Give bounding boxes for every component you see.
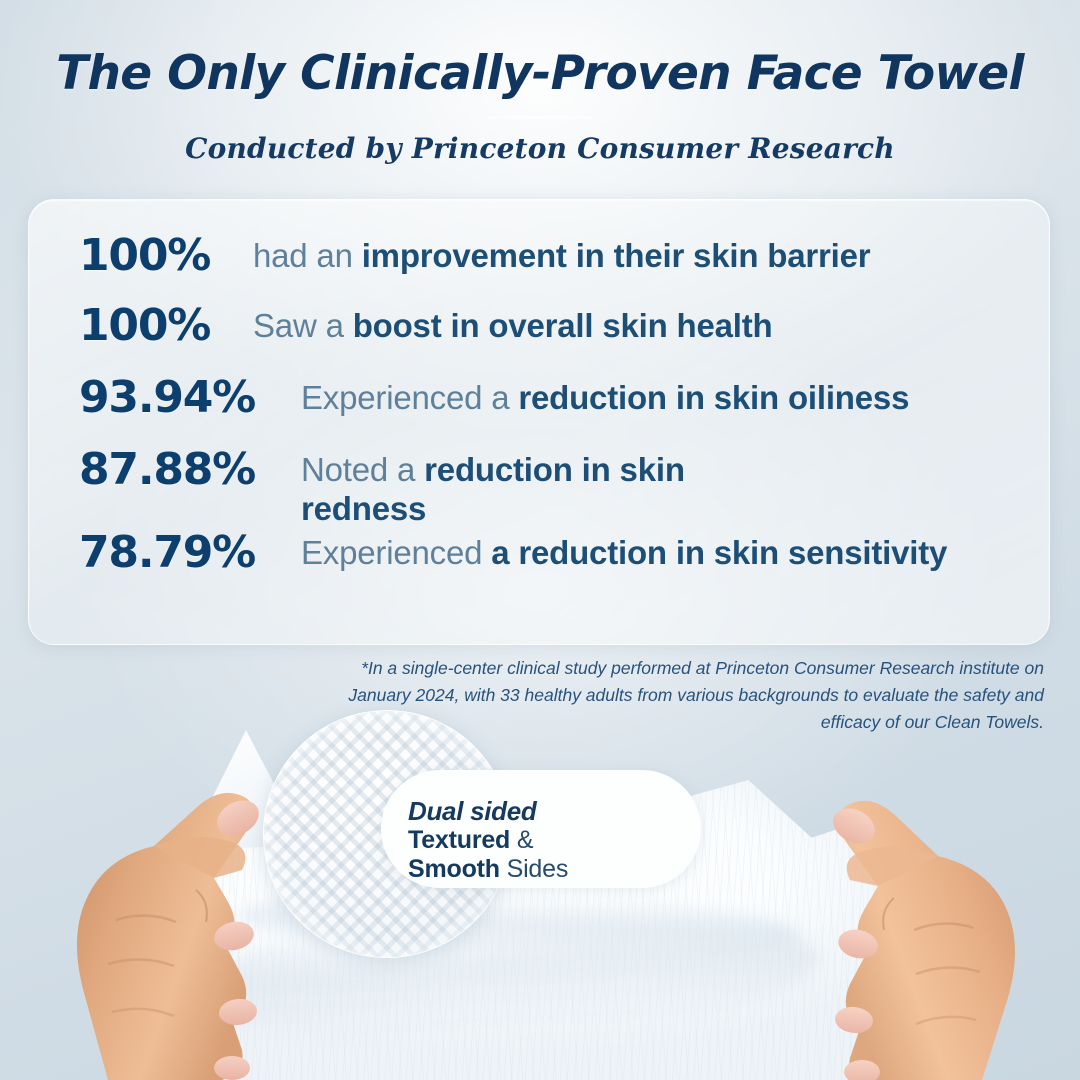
stat-lead: had an [253,237,362,274]
callout-line-1: Textured & [408,826,708,855]
dual-sided-callout: Dual sided Textured & Smooth Sides [408,796,708,884]
stat-highlight: boost in overall skin health [353,307,773,344]
study-disclaimer: *In a single-center clinical study perfo… [344,655,1044,736]
stat-value: 100% [79,234,253,278]
stat-description: Experienced a reduction in skin sensitiv… [301,531,947,573]
stat-lead: Noted a [301,451,424,488]
callout-line-2-rest: Sides [500,855,568,883]
stat-lead: Experienced a [301,379,518,416]
stat-value: 93.94% [79,376,301,420]
page-title: The Only Clinically-Proven Face Towel [0,46,1080,101]
stat-row: 93.94% Experienced a reduction in skin o… [79,376,1009,420]
stats-card: 100% had an improvement in their skin ba… [28,199,1050,645]
stat-row: 100% had an improvement in their skin ba… [79,234,1009,278]
stat-value: 87.88% [79,448,301,492]
left-hand [46,750,326,1080]
stat-row: 78.79% Experienced a reduction in skin s… [79,531,1009,575]
stats-list: 100% had an improvement in their skin ba… [29,200,1049,575]
stat-row: 100% Saw a boost in overall skin health [79,304,1009,348]
right-hand [774,760,1044,1080]
stat-lead: Experienced [301,534,491,571]
callout-line-2: Smooth Sides [408,855,708,884]
stat-value: 100% [79,304,253,348]
title-divider [478,116,602,119]
stat-description: Noted a reduction in skin redness [301,448,731,529]
stat-highlight: improvement in their skin barrier [362,237,871,274]
stat-description: Experienced a reduction in skin oiliness [301,376,909,418]
stat-description: had an improvement in their skin barrier [253,234,870,276]
stat-row: 87.88% Noted a reduction in skin redness [79,448,1009,529]
callout-title: Dual sided [408,796,708,826]
stat-description: Saw a boost in overall skin health [253,304,773,346]
stat-highlight: reduction in skin oiliness [518,379,909,416]
page-subtitle: Conducted by Princeton Consumer Research [0,132,1080,165]
callout-line-1-rest: & [510,826,533,854]
stat-value: 78.79% [79,531,301,575]
callout-line-1-bold: Textured [408,826,510,854]
header: The Only Clinically-Proven Face Towel Co… [0,46,1080,165]
callout-line-2-bold: Smooth [408,855,500,883]
stat-lead: Saw a [253,307,353,344]
stat-highlight: a reduction in skin sensitivity [491,534,947,571]
